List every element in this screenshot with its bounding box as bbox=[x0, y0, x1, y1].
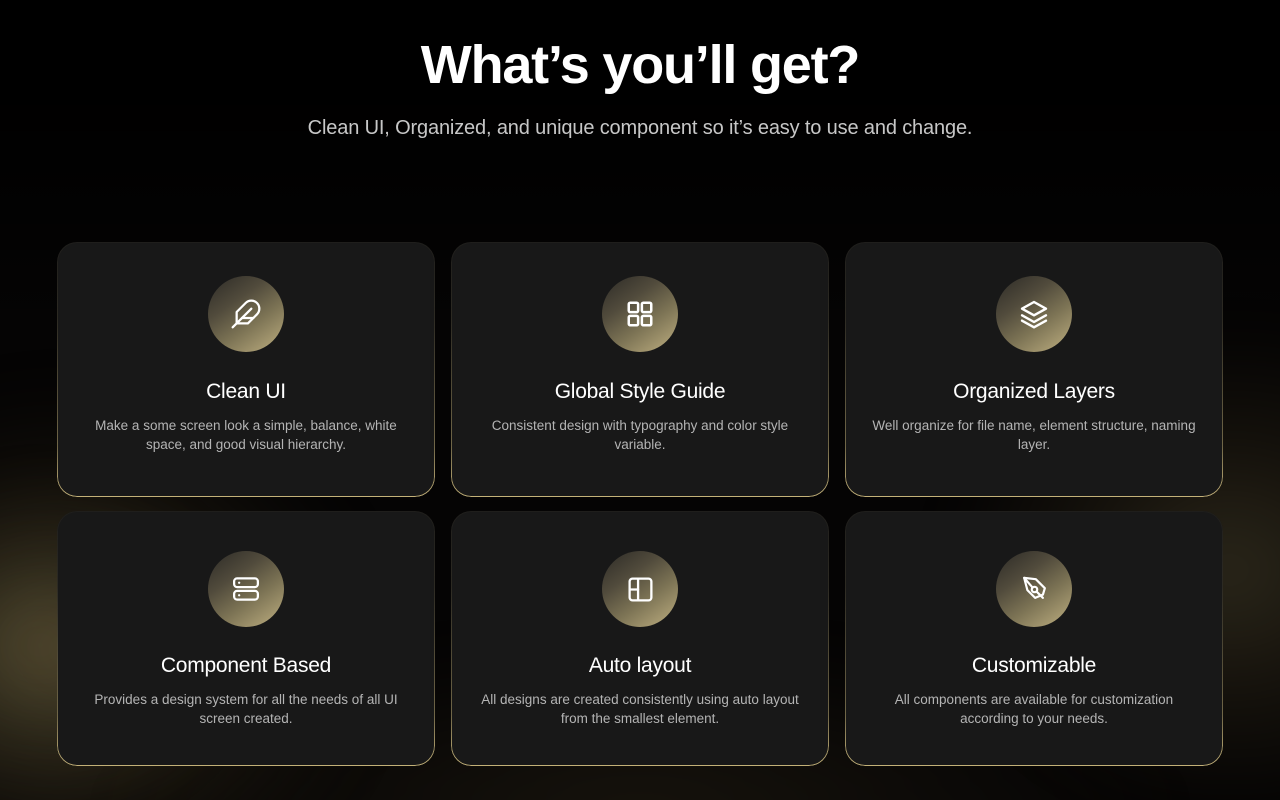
pen-tool-icon bbox=[1019, 574, 1050, 605]
page-subtitle: Clean UI, Organized, and unique componen… bbox=[0, 117, 1280, 140]
icon-badge bbox=[996, 551, 1072, 627]
grid-icon bbox=[625, 299, 655, 329]
page-root: What’s you’ll get? Clean UI, Organized, … bbox=[0, 0, 1280, 800]
card-description: Consistent design with typography and co… bbox=[473, 417, 807, 453]
feature-card-component-based[interactable]: Component Based Provides a design system… bbox=[57, 511, 435, 766]
page-header: What’s you’ll get? Clean UI, Organized, … bbox=[0, 0, 1280, 140]
layout-panel-icon bbox=[626, 575, 655, 604]
icon-badge bbox=[602, 276, 678, 352]
card-description: Make a some screen look a simple, balanc… bbox=[79, 417, 413, 453]
page-title: What’s you’ll get? bbox=[0, 36, 1280, 95]
card-title: Customizable bbox=[867, 654, 1201, 678]
card-title: Clean UI bbox=[79, 380, 413, 404]
server-icon bbox=[231, 574, 261, 604]
feather-icon bbox=[230, 298, 262, 330]
layers-icon bbox=[1018, 298, 1050, 330]
feature-card-clean-ui[interactable]: Clean UI Make a some screen look a simpl… bbox=[57, 242, 435, 497]
icon-badge bbox=[208, 551, 284, 627]
icon-badge bbox=[996, 276, 1072, 352]
card-description: All designs are created consistently usi… bbox=[473, 691, 807, 727]
card-description: All components are available for customi… bbox=[867, 691, 1201, 727]
card-title: Organized Layers bbox=[867, 380, 1201, 404]
icon-badge bbox=[208, 276, 284, 352]
feature-card-organized-layers[interactable]: Organized Layers Well organize for file … bbox=[845, 242, 1223, 497]
card-title: Global Style Guide bbox=[473, 380, 807, 404]
card-description: Well organize for file name, element str… bbox=[867, 417, 1201, 453]
icon-badge bbox=[602, 551, 678, 627]
feature-card-grid: Clean UI Make a some screen look a simpl… bbox=[57, 242, 1223, 766]
card-description: Provides a design system for all the nee… bbox=[79, 691, 413, 727]
card-title: Component Based bbox=[79, 654, 413, 678]
feature-card-auto-layout[interactable]: Auto layout All designs are created cons… bbox=[451, 511, 829, 766]
card-title: Auto layout bbox=[473, 654, 807, 678]
feature-card-customizable[interactable]: Customizable All components are availabl… bbox=[845, 511, 1223, 766]
feature-card-global-style-guide[interactable]: Global Style Guide Consistent design wit… bbox=[451, 242, 829, 497]
